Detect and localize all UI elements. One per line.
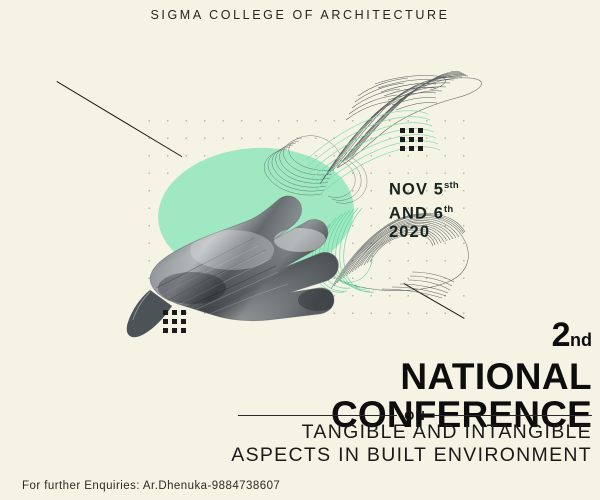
event-date-day1-suffix: sth: [444, 180, 459, 191]
divider-rule-left: [238, 415, 397, 416]
subtitle-line2: ASPECTS IN BUILT ENVIRONMENT: [0, 444, 592, 467]
event-date-line2: AND 6th: [389, 200, 459, 224]
conference-subtitle: TANGIBLE AND INTANGIBLE ASPECTS IN BUILT…: [0, 421, 592, 467]
title-ordinal-suffix: nd: [570, 330, 592, 350]
event-date-day2-suffix: th: [444, 204, 453, 215]
title-ordinal: 2nd: [0, 318, 592, 357]
event-date-day1: NOV 5: [389, 181, 444, 199]
event-date-day2: AND 6: [389, 204, 444, 222]
institution-name: SIGMA COLLEGE OF ARCHITECTURE: [0, 8, 600, 22]
event-date-line1: NOV 5sth: [389, 176, 459, 200]
dot-cluster-upper-right: [400, 128, 423, 151]
title-line-national: NATIONAL: [0, 358, 592, 396]
event-date: NOV 5sth AND 6th 2020: [389, 176, 459, 242]
title-ordinal-number: 2: [552, 316, 570, 354]
divider-rule-right: [433, 415, 592, 416]
conference-poster: SIGMA COLLEGE OF ARCHITECTURE NOV 5sth A…: [0, 0, 600, 500]
subtitle-line1: TANGIBLE AND INTANGIBLE: [0, 421, 592, 444]
event-date-year: 2020: [389, 223, 459, 242]
enquiries-text: For further Enquiries: Ar.Dhenuka-988473…: [22, 480, 280, 492]
wave-art-upper-loops: [264, 136, 367, 204]
hand-photo: [127, 185, 350, 337]
